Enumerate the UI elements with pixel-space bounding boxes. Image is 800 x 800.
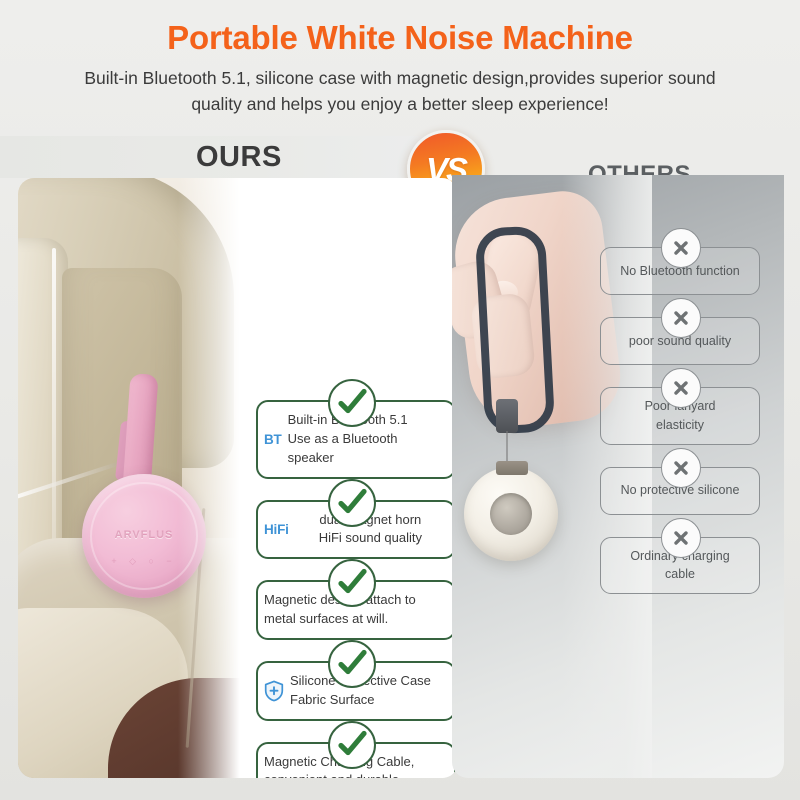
others-drawback-card[interactable]: No protective silicone (600, 467, 760, 515)
check-icon (328, 379, 376, 427)
check-icon (328, 640, 376, 688)
ours-feature-card[interactable]: BT Built-in Bluetooth 5.1 Use as a Bluet… (256, 400, 456, 479)
cross-icon (661, 518, 701, 558)
lanyard-tip (496, 399, 518, 433)
ours-feature-card[interactable]: Magnetic design, attach to metal surface… (256, 580, 456, 640)
page-title: Portable White Noise Machine (0, 0, 800, 56)
cross-icon (661, 448, 701, 488)
ours-label: OURS (196, 141, 282, 174)
cross-icon (661, 228, 701, 268)
others-drawback-list: No Bluetooth function poor sound quality… (600, 247, 760, 616)
ours-feature-list: BT Built-in Bluetooth 5.1 Use as a Bluet… (256, 400, 456, 778)
photo-fade-overlay (178, 178, 248, 778)
ours-panel: ARVFLUS + ◇ ○ − BT Built-in Bluetooth 5.… (18, 178, 458, 778)
hifi-badge: HiFi (264, 522, 289, 537)
page-subtitle: Built-in Bluetooth 5.1, silicone case wi… (70, 56, 730, 117)
cross-icon (661, 368, 701, 408)
check-icon (328, 479, 376, 527)
others-drawback-card[interactable]: Poor lanyard elasticity (600, 387, 760, 445)
ours-feature-card[interactable]: HiFi dual-magnet horn HiFi sound quality (256, 500, 456, 560)
others-drawback-card[interactable]: No Bluetooth function (600, 247, 760, 295)
ours-feature-card[interactable]: Silicone Protective Case Fabric Surface (256, 661, 456, 721)
chair-seam (52, 248, 56, 548)
others-drawback-card[interactable]: poor sound quality (600, 317, 760, 365)
device-inner-ring (490, 493, 532, 535)
shield-plus-icon (264, 680, 284, 702)
header: Portable White Noise Machine Built-in Bl… (0, 0, 800, 117)
infographic-root: Portable White Noise Machine Built-in Bl… (0, 0, 800, 800)
check-icon (328, 559, 376, 607)
cross-icon (661, 298, 701, 338)
others-panel: No Bluetooth function poor sound quality… (452, 175, 784, 778)
ours-feature-card[interactable]: Magnetic Charging Cable, convenient and … (256, 742, 456, 778)
chair-side-wing (18, 238, 68, 568)
bluetooth-badge: BT (264, 432, 282, 447)
others-drawback-card[interactable]: Ordinary charging cable (600, 537, 760, 595)
competitor-device (464, 467, 558, 561)
ours-product-photo: ARVFLUS + ◇ ○ − (18, 178, 248, 778)
check-icon (328, 721, 376, 769)
device-clip (496, 461, 528, 475)
